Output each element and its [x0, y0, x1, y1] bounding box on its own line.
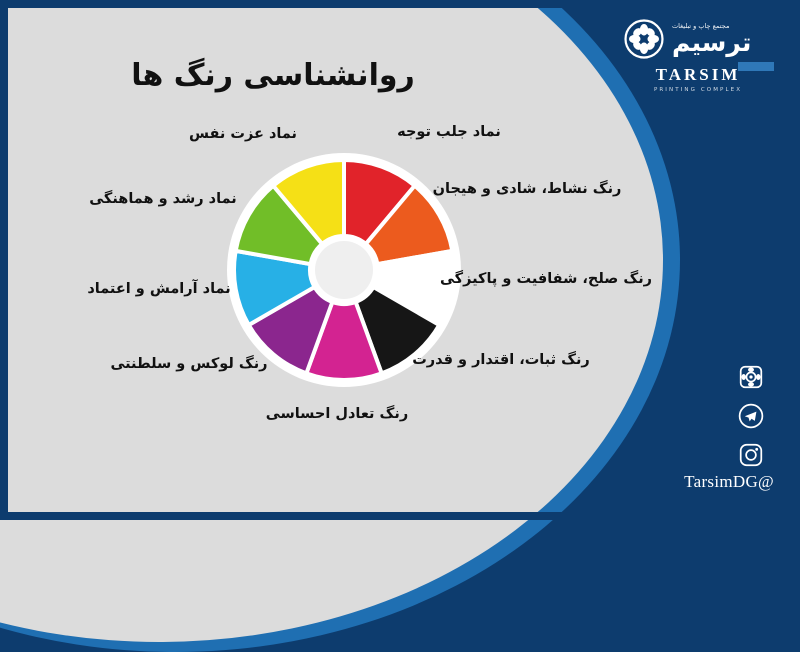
label-red: نماد جلب توجه	[374, 124, 524, 140]
label-yellow: نماد عزت نفس	[160, 126, 326, 142]
aparat-icon[interactable]	[738, 364, 764, 390]
label-orange: رنگ نشاط، شادی و هیجان	[424, 181, 630, 197]
brand-logo: مجتمع چاپ و تبلیغات ترسیم	[622, 16, 774, 94]
flower-petal-logo-mark	[622, 17, 666, 61]
instagram-icon[interactable]	[738, 442, 764, 468]
label-green: نماد رشد و هماهنگی	[66, 191, 260, 207]
page-title: روانشناسی رنگ ها	[0, 58, 546, 93]
wheel-center-hole	[315, 241, 373, 299]
border-strip-bottom	[0, 512, 800, 520]
logo-blue-tab	[738, 62, 774, 71]
label-purple: رنگ لوکس و سلطنتی	[96, 356, 282, 372]
telegram-icon[interactable]	[738, 403, 764, 429]
logo-subtitle-latin: PRINTING COMPLEX	[622, 87, 774, 93]
logo-tagline-fa: مجتمع چاپ و تبلیغات	[672, 23, 729, 30]
logo-name-fa: ترسیم	[672, 30, 751, 55]
social-links	[738, 364, 764, 468]
infographic-canvas: مجتمع چاپ و تبلیغات ترسیم	[0, 0, 800, 520]
label-black: رنگ ثبات، اقتدار و قدرت	[408, 352, 594, 368]
label-white: رنگ صلح، شفافیت و پاکیزگی	[444, 271, 652, 287]
label-magenta: رنگ تعادل احساسی	[250, 406, 424, 422]
label-cyan: نماد آرامش و اعتماد	[62, 281, 256, 297]
border-strip-top	[0, 0, 800, 8]
social-handle: @TarsimDG	[684, 472, 774, 492]
